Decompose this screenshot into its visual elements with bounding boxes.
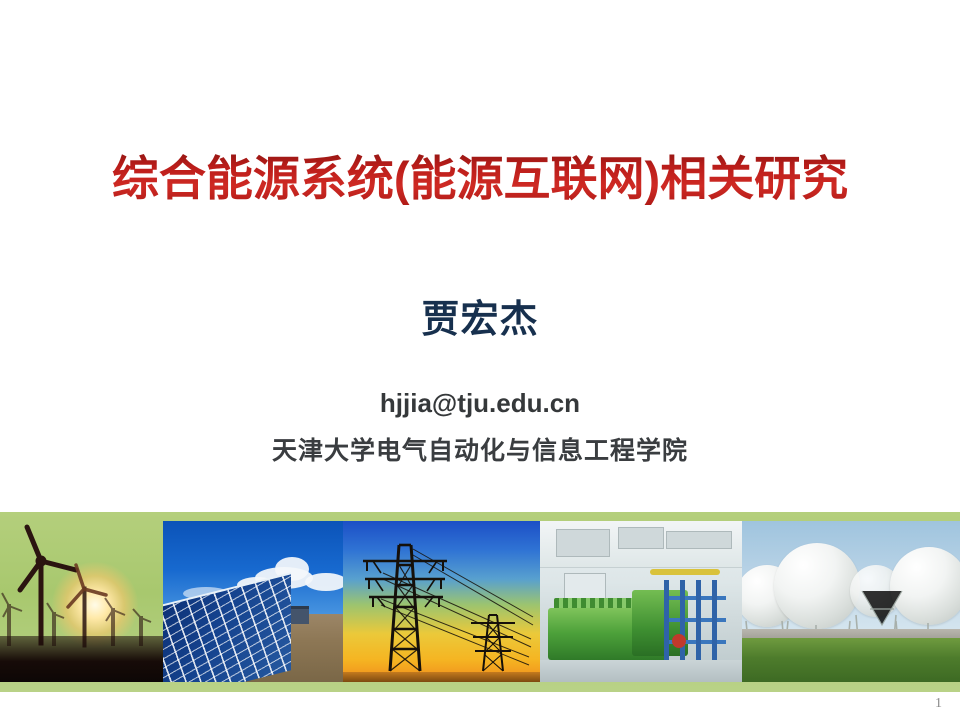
grass-foreground (742, 638, 960, 682)
horizon-strip (343, 672, 540, 682)
author-email: hjjia@tju.edu.cn (0, 388, 960, 419)
yellow-pipe (650, 569, 720, 575)
dark-ground (0, 636, 163, 682)
transmission-towers-photo (343, 521, 540, 682)
ceiling-duct (556, 529, 610, 557)
presentation-slide: 综合能源系统(能源互联网)相关研究 贾宏杰 hjjia@tju.edu.cn 天… (0, 0, 960, 720)
ceiling-duct (666, 531, 732, 549)
page-title: 综合能源系统(能源互联网)相关研究 (0, 150, 960, 209)
contact-area: hjjia@tju.edu.cn 天津大学电气自动化与信息工程学院 (0, 388, 960, 467)
author-area: 贾宏杰 (0, 288, 960, 343)
ceiling-duct (618, 527, 664, 549)
plant-floor (540, 660, 742, 682)
author-affiliation: 天津大学电气自动化与信息工程学院 (0, 431, 960, 467)
blue-pipework (664, 580, 726, 666)
red-valve (672, 634, 686, 648)
title-area: 综合能源系统(能源互联网)相关研究 (0, 150, 960, 209)
solar-panel-farm-photo (163, 521, 343, 682)
cloud-shape (305, 573, 343, 591)
pylon-shapes (343, 521, 540, 682)
photo-band (0, 512, 960, 692)
gas-engine-plant-photo (540, 521, 742, 682)
author-name: 贾宏杰 (0, 288, 960, 343)
wind-turbines-sunset-photo (0, 521, 163, 682)
spherical-gas-tanks-photo (742, 521, 960, 682)
page-number: 1 (935, 696, 942, 712)
